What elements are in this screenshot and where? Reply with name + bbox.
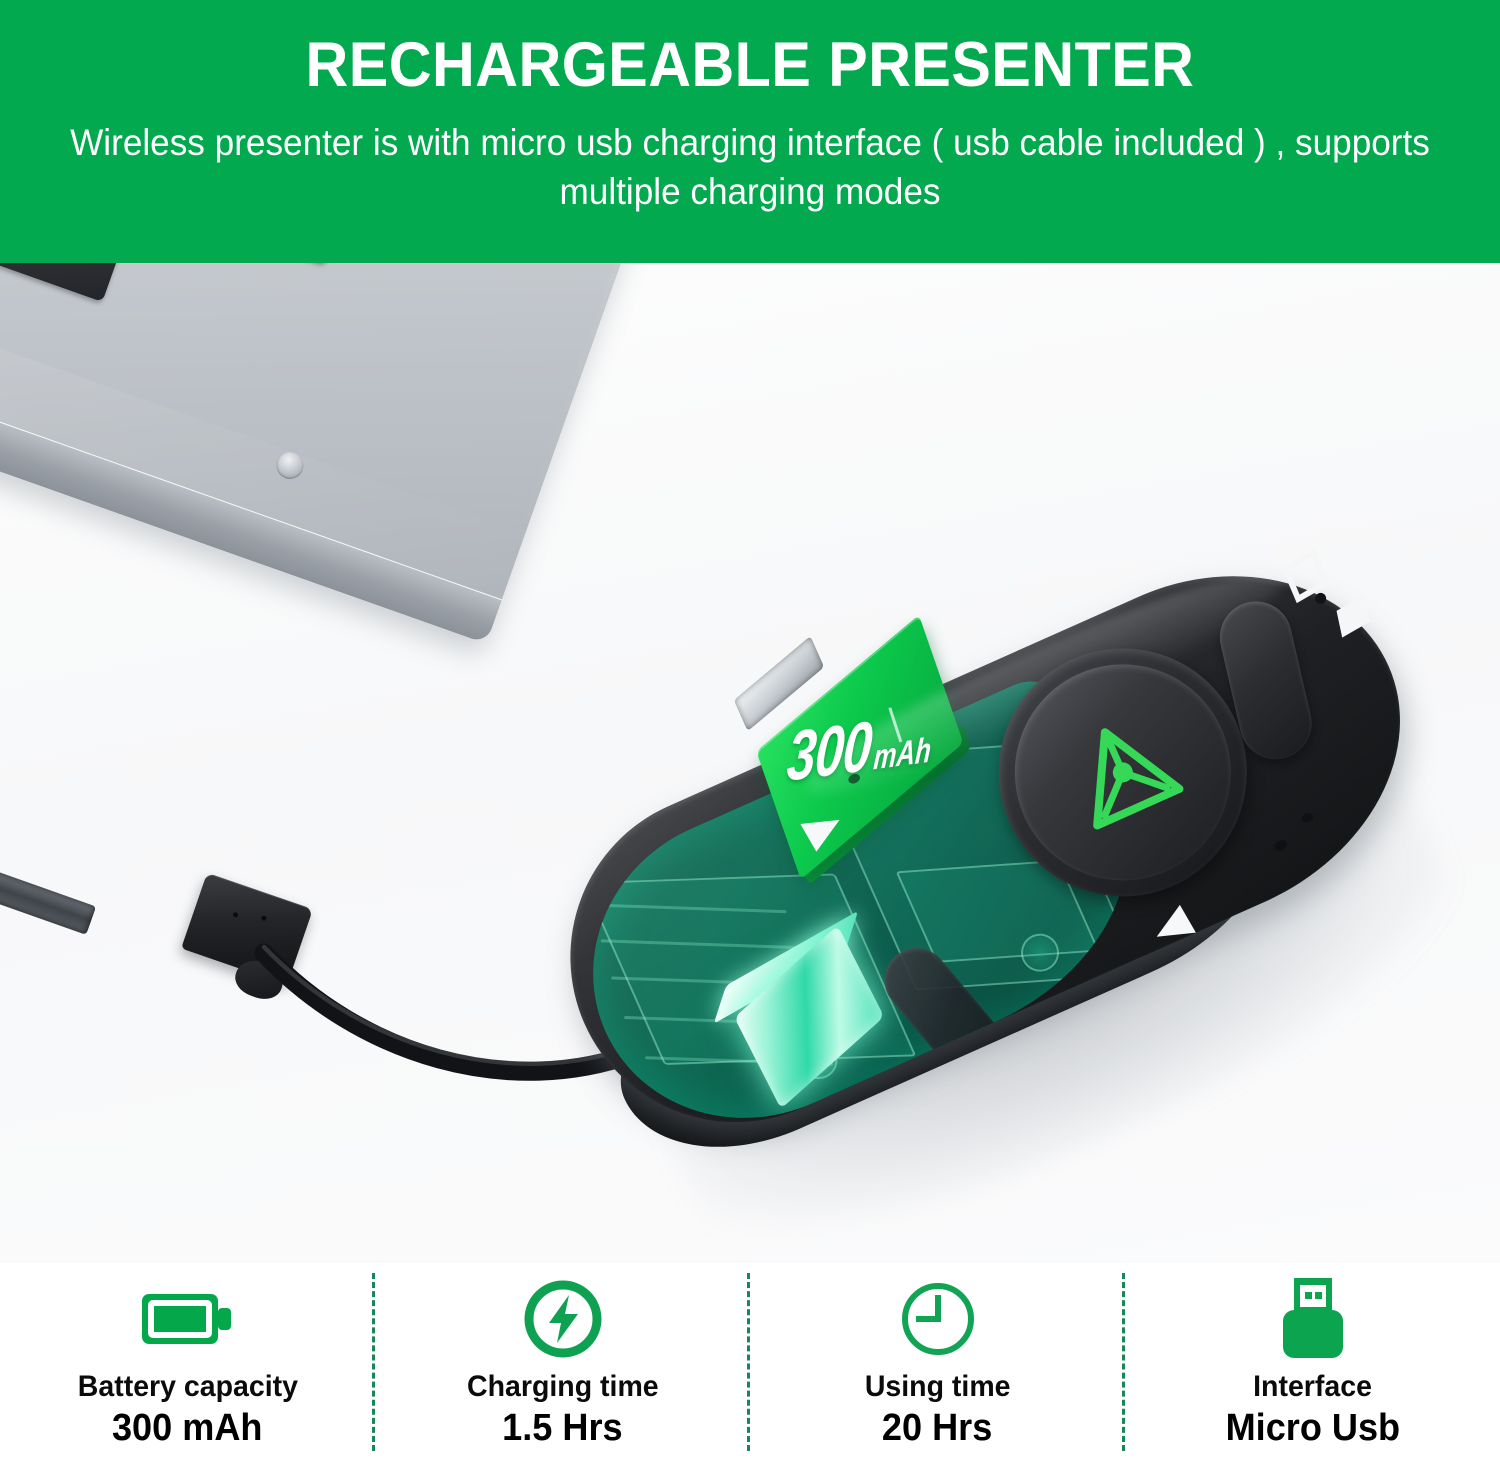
plug-pinhole bbox=[232, 912, 238, 918]
clock-icon-wrap bbox=[897, 1279, 979, 1359]
laptop-usb-port bbox=[0, 864, 96, 935]
charging-bolt-icon bbox=[522, 1278, 604, 1360]
laptop-chassis: @ 2 ↺ caps lock shift ! 1 tab bbox=[0, 263, 660, 644]
charging-bolt-icon-wrap bbox=[522, 1279, 604, 1359]
laser-triangle-logo bbox=[1052, 703, 1193, 842]
page-title: RECHARGEABLE PRESENTER bbox=[45, 0, 1455, 97]
usb-plug-icon bbox=[1272, 1276, 1354, 1362]
feature-using-time: Using time 20 Hrs bbox=[750, 1263, 1125, 1462]
feature-label: Interface bbox=[1253, 1371, 1372, 1403]
feature-value: 20 Hrs bbox=[882, 1409, 992, 1449]
feature-value: 1.5 Hrs bbox=[502, 1409, 622, 1449]
feature-label: Charging time bbox=[467, 1371, 659, 1403]
feature-value: 300 mAh bbox=[112, 1409, 262, 1449]
product-photo: @ 2 ↺ caps lock shift ! 1 tab bbox=[0, 263, 1500, 1263]
feature-charging-time: Charging time 1.5 Hrs bbox=[375, 1263, 750, 1462]
feature-value: Micro Usb bbox=[1225, 1409, 1400, 1449]
battery-icon bbox=[140, 1288, 236, 1350]
laptop: @ 2 ↺ caps lock shift ! 1 tab bbox=[0, 263, 660, 681]
feature-row: Battery capacity 300 mAh Charging time 1… bbox=[0, 1263, 1500, 1462]
feature-label: Using time bbox=[865, 1371, 1011, 1403]
wireless-presenter-device: 300mAh bbox=[469, 398, 1500, 1263]
feature-interface: Interface Micro Usb bbox=[1125, 1263, 1500, 1462]
feature-battery-capacity: Battery capacity 300 mAh bbox=[0, 1263, 375, 1462]
keyboard-key bbox=[207, 263, 360, 264]
feature-label: Battery capacity bbox=[77, 1371, 297, 1403]
battery-icon-wrap bbox=[140, 1279, 236, 1359]
usb-plug-icon-wrap bbox=[1272, 1279, 1354, 1359]
clock-icon bbox=[897, 1278, 979, 1360]
keyboard-key bbox=[0, 263, 134, 302]
header-subtitle: Wireless presenter is with micro usb cha… bbox=[38, 97, 1463, 217]
header-banner: RECHARGEABLE PRESENTER Wireless presente… bbox=[0, 0, 1500, 263]
